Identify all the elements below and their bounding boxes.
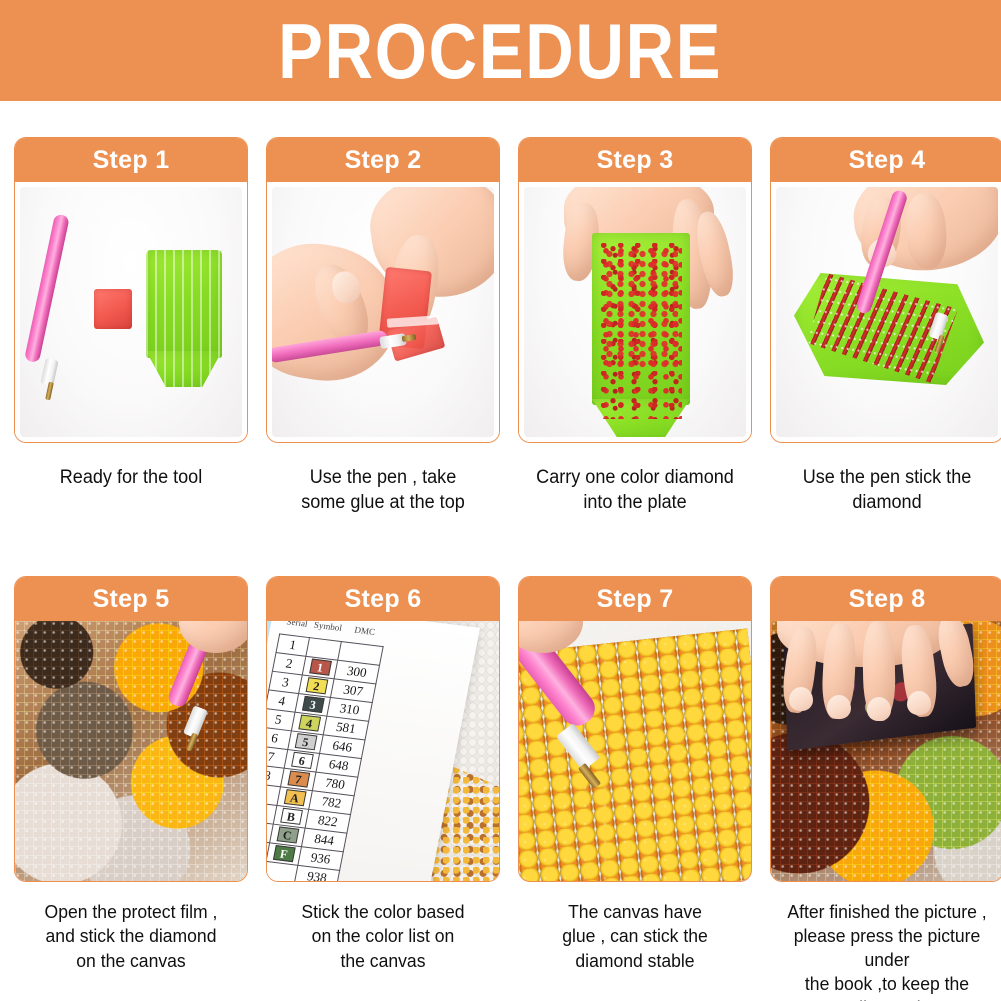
step-7-illustration [519, 621, 751, 881]
color-chart-table: Serial Symbol DMC 1 21300 32307 43310 [267, 621, 389, 881]
step-7-card: Step 7 [518, 576, 752, 882]
step-3-illustration [524, 187, 746, 437]
step-5-illustration [15, 621, 247, 881]
step-card-6: Step 6 [266, 576, 500, 1001]
step-3-card: Step 3 [518, 137, 752, 443]
step-8-photo [771, 621, 1001, 881]
step-5-photo [15, 621, 247, 881]
step-4-illustration [776, 187, 998, 437]
step-1-caption: Ready for the tool [20, 465, 242, 490]
step-3-header: Step 3 [519, 138, 751, 182]
step-7-caption: The canvas have glue , can stick the dia… [524, 900, 746, 973]
steps-row-1: Step 1 [14, 137, 987, 515]
step-4-photo [771, 182, 1001, 442]
step-7-photo [519, 621, 751, 881]
step-6-header: Step 6 [267, 577, 499, 621]
step-5-card: Step 5 [14, 576, 248, 882]
step-2-header: Step 2 [267, 138, 499, 182]
step-card-8: Step 8 [770, 576, 1001, 1001]
step-6-illustration: Serial Symbol DMC 1 21300 32307 43310 [267, 621, 499, 881]
step-7-header: Step 7 [519, 577, 751, 621]
step-5-header: Step 5 [15, 577, 247, 621]
step-2-illustration [272, 187, 494, 437]
step-6-caption: Stick the color based on the color list … [272, 900, 494, 973]
step-8-caption: After finished the picture , please pres… [776, 900, 998, 1001]
step-4-header: Step 4 [771, 138, 1001, 182]
step-card-5: Step 5 Open the protect film , [14, 576, 248, 1001]
step-1-card: Step 1 [14, 137, 248, 443]
step-2-caption: Use the pen , take some glue at the top [272, 465, 494, 515]
step-5-caption: Open the protect film , and stick the di… [20, 900, 242, 973]
step-3-caption: Carry one color diamond into the plate [524, 465, 746, 515]
page-banner: PROCEDURE [0, 0, 1001, 101]
step-6-card: Step 6 [266, 576, 500, 882]
step-card-4: Step 4 [770, 137, 1001, 515]
step-8-illustration [771, 621, 1001, 881]
step-8-card: Step 8 [770, 576, 1001, 882]
step-1-illustration [20, 187, 242, 437]
step-2-photo [267, 182, 499, 442]
color-chart-body: Serial Symbol DMC 1 21300 32307 43310 [267, 621, 388, 881]
step-card-2: Step 2 [266, 137, 500, 515]
procedure-infographic: PROCEDURE Step 1 [0, 0, 1001, 1001]
step-3-photo [519, 182, 751, 442]
steps-row-2: Step 5 Open the protect film , [14, 576, 987, 1001]
step-4-caption: Use the pen stick the diamond [776, 465, 998, 515]
step-8-header: Step 8 [771, 577, 1001, 621]
step-2-card: Step 2 [266, 137, 500, 443]
step-4-card: Step 4 [770, 137, 1001, 443]
step-card-7: Step 7 The canvas have glue , [518, 576, 752, 1001]
step-6-photo: Serial Symbol DMC 1 21300 32307 43310 [267, 621, 499, 881]
chart-symbol [267, 861, 298, 881]
step-1-photo [15, 182, 247, 442]
page-title: PROCEDURE [278, 12, 722, 90]
step-card-1: Step 1 [14, 137, 248, 515]
step-card-3: Step 3 [518, 137, 752, 515]
step-1-header: Step 1 [15, 138, 247, 182]
